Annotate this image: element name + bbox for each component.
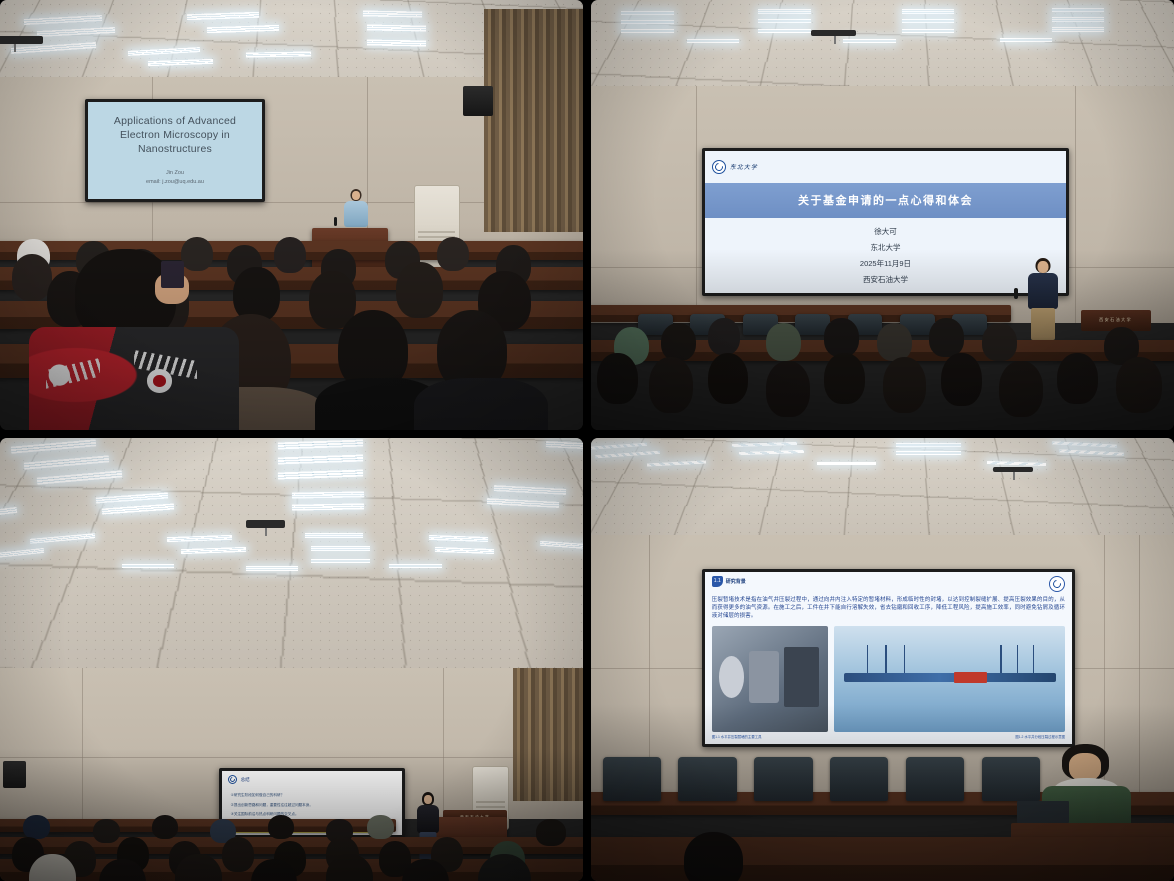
university-seal-icon — [1049, 576, 1065, 592]
slide-paragraph-br: 压裂暂堵技术是指在油气井压裂过程中，通过向井内注入特定的暂堵材料，形成临时性的封… — [712, 596, 1065, 621]
slide-header-bl: 总结 — [222, 771, 403, 786]
lecture-scene-tr: 东北大学 关于基金申请的一点心得和体会 徐大可 东北大学 2025年11月9日 … — [591, 0, 1174, 430]
slide-body-tr: 徐大可 东北大学 2025年11月9日 西安石油大学 — [705, 218, 1066, 293]
microphone-icon — [334, 217, 337, 226]
slide-title-line-3: Nanostructures — [138, 142, 212, 156]
slide-header-tr: 东北大学 — [705, 151, 1066, 182]
slide-line-affiliation: 东北大学 — [870, 242, 900, 253]
figure-2-image — [834, 626, 1065, 733]
slide-line-date: 2025年11月9日 — [860, 258, 911, 269]
projector-icon — [993, 467, 1032, 472]
slide-line-venue: 西安石油大学 — [863, 274, 908, 285]
panel-top-right[interactable]: 东北大学 关于基金申请的一点心得和体会 徐大可 东北大学 2025年11月9日 … — [591, 0, 1174, 430]
lecture-scene-br: 1.1 研究背景 压裂暂堵技术是指在油气井压裂过程中，通过向井内注入特定的暂堵材… — [591, 438, 1174, 881]
slide-title-line-2: Electron Microscopy in — [120, 128, 230, 142]
ceiling-bl — [0, 438, 583, 695]
university-seal-icon — [712, 160, 726, 174]
laptop-icon — [1017, 801, 1069, 823]
slide-title-line-1: Applications of Advanced — [114, 114, 236, 128]
section-title-br: 研究背景 — [726, 578, 746, 585]
loudspeaker-icon — [3, 761, 26, 788]
figure-2-caption: 图1.2 水平井分段压裂过程示意图 — [1015, 734, 1065, 739]
slide-figures-br — [712, 626, 1065, 733]
slide-title-band: 关于基金申请的一点心得和体会 — [705, 183, 1066, 218]
lecture-scene-bl: 总结 ①研究生阶段如何做自己的科研？ ②提出创新思路和问题，重要性往往超过问题本… — [0, 438, 583, 881]
projector-screen-tr: 东北大学 关于基金申请的一点心得和体会 徐大可 东北大学 2025年11月9日 … — [705, 151, 1066, 293]
projector-screen-tl: Applications of Advanced Electron Micros… — [88, 102, 263, 199]
projector-icon — [246, 520, 285, 528]
bullet-1: ①研究生阶段如何做自己的科研？ — [231, 793, 394, 798]
microphone-icon — [1014, 288, 1018, 299]
slide-org-name: 东北大学 — [730, 162, 758, 171]
slide-captions-br: 图1.1 水平井压裂暂堵的主要工具 图1.2 水平井分段压裂过程示意图 — [712, 732, 1065, 739]
photo-collage: Applications of Advanced Electron Micros… — [0, 0, 1174, 881]
projector-screen-br: 1.1 研究背景 压裂暂堵技术是指在油气井压裂过程中，通过向井内注入特定的暂堵材… — [705, 572, 1072, 745]
slide-title-tr: 关于基金申请的一点心得和体会 — [798, 192, 973, 208]
slide-jin-zou: Applications of Advanced Electron Micros… — [88, 102, 263, 199]
slide-presenter-name: Jin Zou — [166, 170, 184, 178]
podium-sign-text-tr: 西安石油大学 — [1099, 317, 1132, 323]
slide-section-title-bl: 总结 — [241, 777, 250, 783]
panel-top-left[interactable]: Applications of Advanced Electron Micros… — [0, 0, 583, 430]
section-number-badge: 1.1 — [712, 576, 723, 587]
slide-funding-application: 东北大学 关于基金申请的一点心得和体会 徐大可 东北大学 2025年11月9日 … — [705, 151, 1066, 293]
bullet-3: ③关注国际前沿与热点科研问题的交叉点。 — [231, 812, 394, 817]
figure-1-caption: 图1.1 水平井压裂暂堵的主要工具 — [712, 734, 762, 739]
slide-presenter-email: email: j.zou@uq.edu.au — [146, 179, 204, 187]
window-curtain-bl — [513, 668, 583, 801]
university-seal-icon — [228, 775, 237, 784]
panel-bottom-right[interactable]: 1.1 研究背景 压裂暂堵技术是指在油气井压裂过程中，通过向井内注入特定的暂堵材… — [591, 438, 1174, 881]
projector-screen-frame-tr: 东北大学 关于基金申请的一点心得和体会 徐大可 东北大学 2025年11月9日 … — [702, 148, 1069, 296]
projector-screen-frame-tl: Applications of Advanced Electron Micros… — [85, 99, 266, 202]
slide-top-br: 1.1 研究背景 — [712, 576, 1065, 592]
slide-research-background: 1.1 研究背景 压裂暂堵技术是指在油气井压裂过程中，通过向井内注入特定的暂堵材… — [705, 572, 1072, 745]
projector-screen-frame-br: 1.1 研究背景 压裂暂堵技术是指在油气井压裂过程中，通过向井内注入特定的暂堵材… — [702, 569, 1075, 748]
panel-bottom-left[interactable]: 总结 ①研究生阶段如何做自己的科研？ ②提出创新思路和问题，重要性往往超过问题本… — [0, 438, 583, 881]
figure-1-image — [712, 626, 829, 733]
slide-section-tag: 1.1 研究背景 — [712, 576, 746, 587]
foreground-audience-photographer — [29, 249, 239, 430]
window-curtain-tl — [484, 9, 583, 233]
projector-icon — [0, 36, 43, 45]
loudspeaker-icon — [463, 86, 492, 116]
slide-line-author: 徐大可 — [874, 226, 897, 237]
bullet-2: ②提出创新思路和问题，重要性往往超过问题本身。 — [231, 803, 394, 808]
projector-icon — [811, 30, 857, 36]
lecture-scene-tl: Applications of Advanced Electron Micros… — [0, 0, 583, 430]
